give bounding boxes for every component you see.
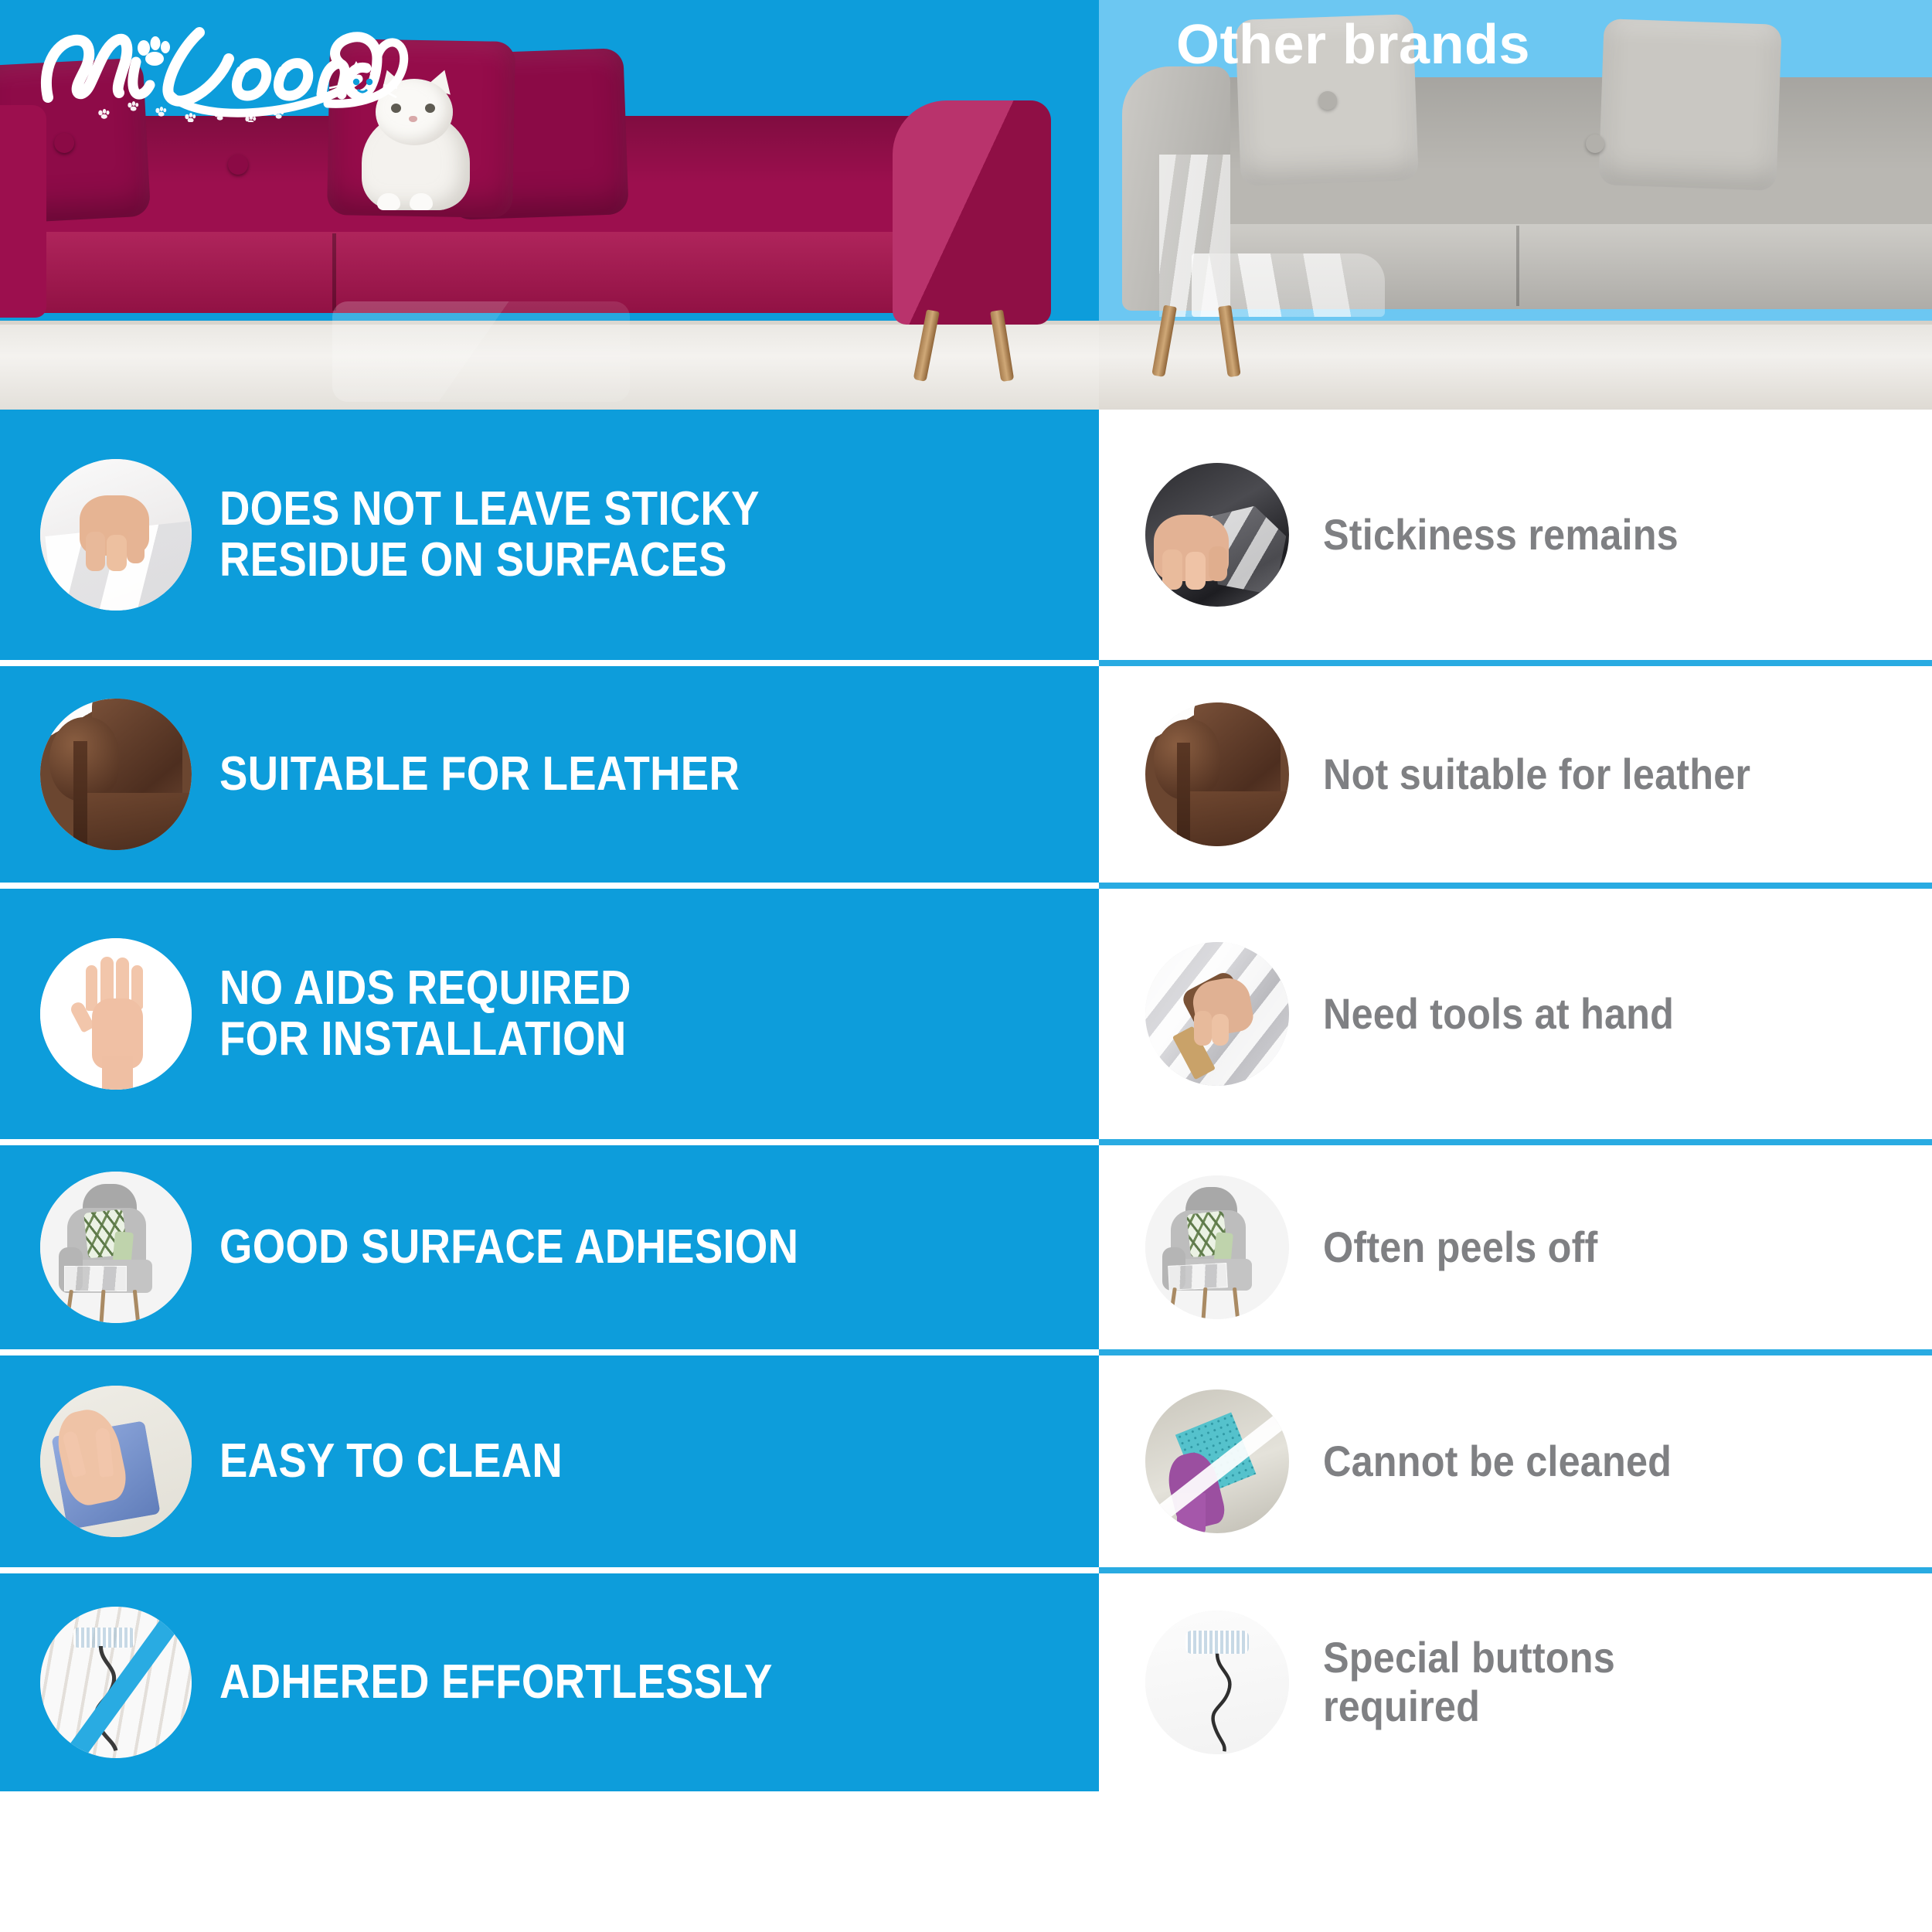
feature-label-other: Cannot be cleaned: [1323, 1437, 1672, 1486]
brown-leather-sofa-arm-icon: [40, 699, 192, 850]
other-brands-title: Other brands: [1176, 17, 1872, 73]
feature-label-ours: GOOD SURFACE ADHESION: [219, 1222, 798, 1273]
feature-cell-ours: GOOD SURFACE ADHESION: [0, 1145, 1099, 1355]
feature-label-other: Often peels off: [1323, 1223, 1598, 1272]
feature-cell-ours: SUITABLE FOR LEATHER: [0, 666, 1099, 889]
feature-label-ours: EASY TO CLEAN: [219, 1436, 563, 1487]
open-palm-hand-icon: [40, 938, 192, 1090]
hero-left-panel: [0, 0, 1099, 410]
comparison-row: NO AIDS REQUIRED FOR INSTALLATION Need t…: [0, 889, 1932, 1145]
brown-leather-sofa-arm-icon: [1145, 702, 1289, 846]
feature-label-ours: ADHERED EFFORTLESSLY: [219, 1657, 773, 1708]
infographic-page: Other brands DOES NOT LEAVE STICKY RESID…: [0, 0, 1932, 1932]
feature-cell-other: Often peels off: [1099, 1145, 1932, 1355]
feature-label-other: Need tools at hand: [1323, 990, 1674, 1039]
miloona-logo: [34, 14, 420, 122]
comparison-row: EASY TO CLEAN Cannot be cleaned: [0, 1355, 1932, 1573]
comparison-table: DOES NOT LEAVE STICKY RESIDUE ON SURFACE…: [0, 410, 1932, 1932]
feature-cell-ours: NO AIDS REQUIRED FOR INSTALLATION: [0, 889, 1099, 1145]
sofa-legs: [923, 311, 1032, 384]
feature-label-ours: NO AIDS REQUIRED FOR INSTALLATION: [219, 963, 631, 1064]
gray-sofa: [1122, 77, 1932, 332]
comparison-row: GOOD SURFACE ADHESION Often peels off: [0, 1145, 1932, 1355]
comparison-row: ADHERED EFFORTLESSLY Special buttons req…: [0, 1573, 1932, 1791]
feature-label-ours: SUITABLE FOR LEATHER: [219, 749, 740, 800]
feature-label-other: Special buttons required: [1323, 1634, 1615, 1730]
comparison-row: SUITABLE FOR LEATHER Not suitable for le…: [0, 666, 1932, 889]
hand-with-squeegee-tool-icon: [1145, 942, 1289, 1086]
gray-armchair-with-film-icon: [40, 1172, 192, 1323]
twist-pin-icon: [1145, 1611, 1289, 1754]
smooth-film-overlay-icon: [332, 301, 630, 402]
gloved-hand-with-sponge-crossed-out-icon: [1145, 1389, 1289, 1533]
feature-cell-ours: DOES NOT LEAVE STICKY RESIDUE ON SURFACE…: [0, 410, 1099, 666]
sofa-legs: [1159, 306, 1260, 379]
twist-pin-crossed-out-icon: [40, 1607, 192, 1758]
hand-holding-crumpled-film-icon: [1145, 463, 1289, 607]
feature-cell-other: Need tools at hand: [1099, 889, 1932, 1145]
feature-label-other: Stickiness remains: [1323, 511, 1679, 560]
feature-cell-ours: ADHERED EFFORTLESSLY: [0, 1573, 1099, 1791]
hand-peeling-clear-film-icon: [40, 459, 192, 611]
magenta-sofa: [0, 116, 1051, 336]
feature-cell-other: Special buttons required: [1099, 1573, 1932, 1791]
feature-cell-other: Cannot be cleaned: [1099, 1355, 1932, 1573]
feature-cell-ours: EASY TO CLEAN: [0, 1355, 1099, 1573]
comparison-row: DOES NOT LEAVE STICKY RESIDUE ON SURFACE…: [0, 410, 1932, 666]
hand-wiping-with-blue-cloth-icon: [40, 1386, 192, 1537]
feature-cell-other: Stickiness remains: [1099, 410, 1932, 666]
gray-armchair-peeling-film-icon: [1145, 1175, 1289, 1319]
feature-label-other: Not suitable for leather: [1323, 750, 1750, 799]
hero-section: Other brands: [0, 0, 1932, 410]
feature-label-ours: DOES NOT LEAVE STICKY RESIDUE ON SURFACE…: [219, 484, 760, 585]
feature-cell-other: Not suitable for leather: [1099, 666, 1932, 889]
paw-print-icon: [138, 36, 170, 66]
